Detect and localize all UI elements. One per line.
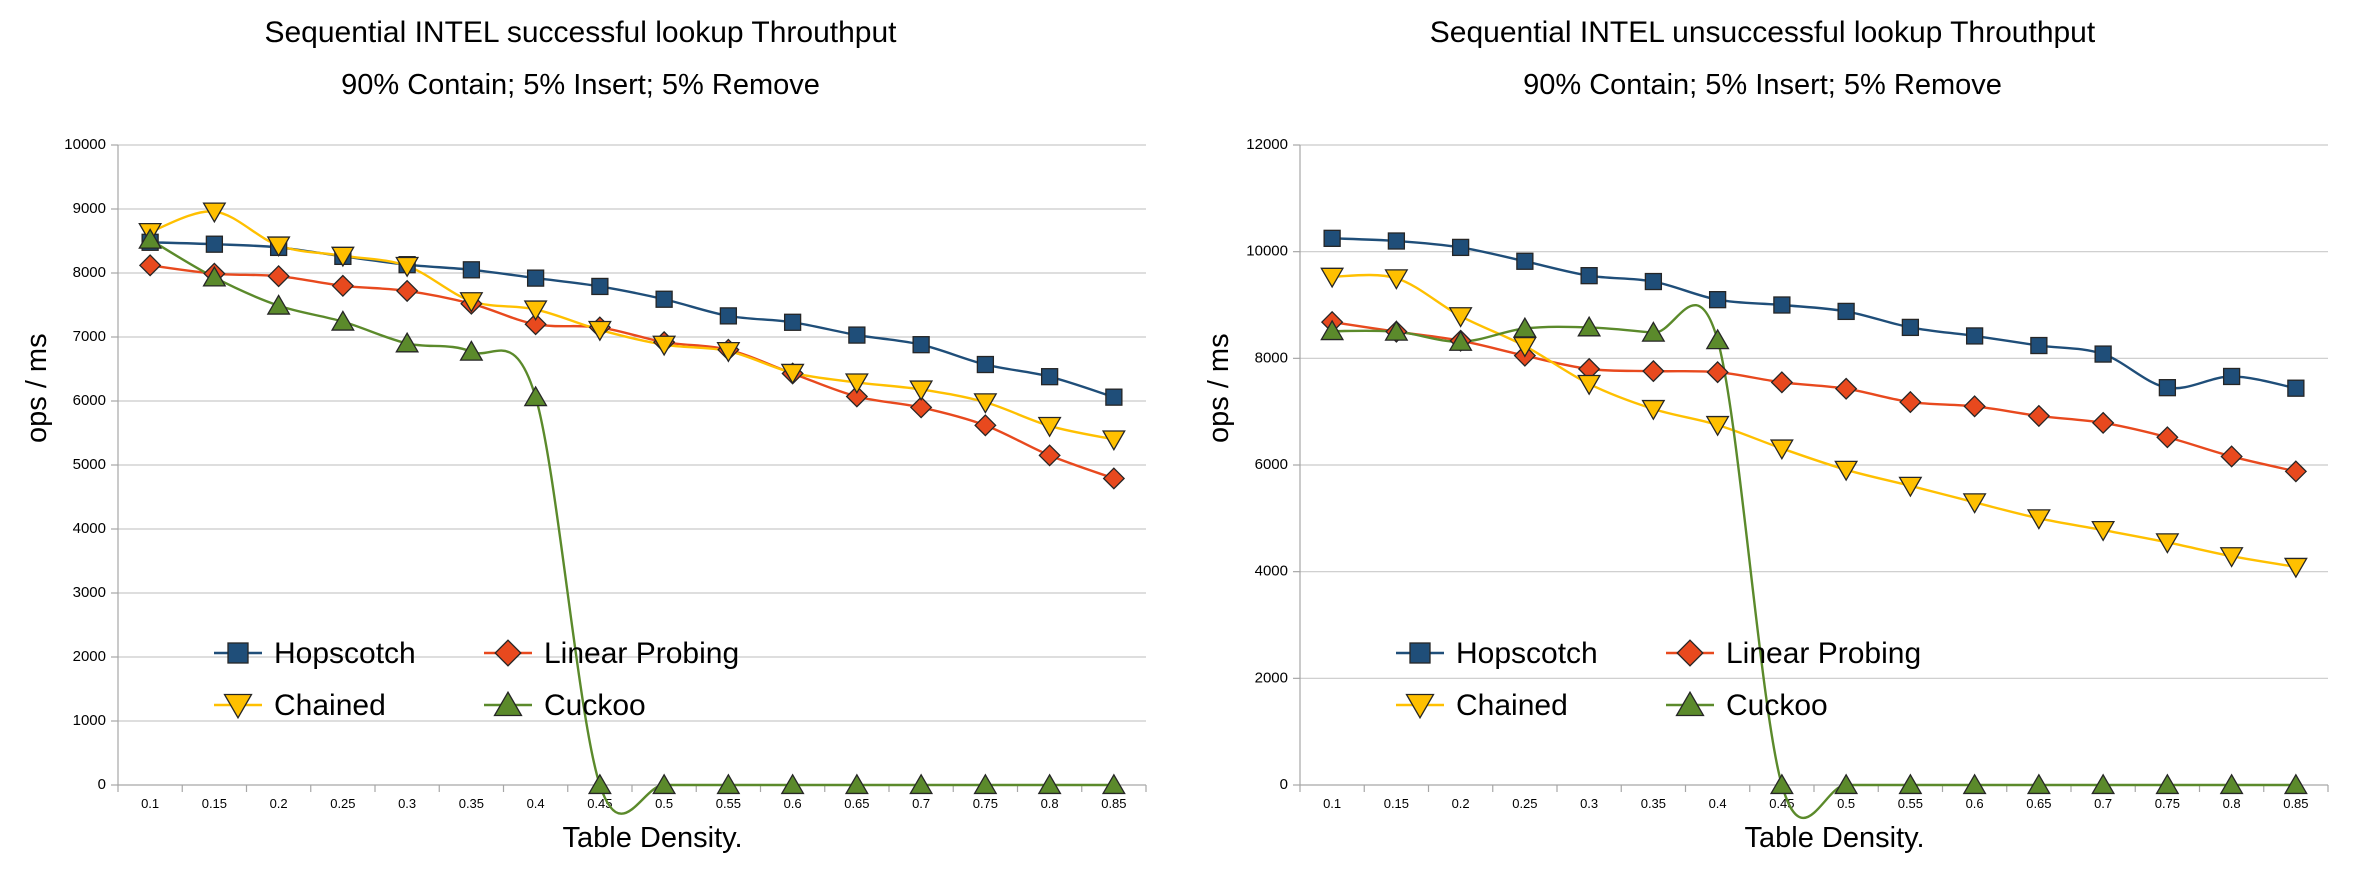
legend-label: Cuckoo	[544, 689, 646, 722]
series-line-hopscotch	[150, 242, 1114, 397]
x-tick-label: 0.6	[784, 796, 802, 811]
series-group	[150, 211, 1114, 813]
datapoint-hopscotch	[1517, 253, 1533, 269]
legend-item-chained[interactable]: Chained	[214, 689, 386, 722]
datapoint-linear-probing	[397, 281, 417, 301]
datapoint-chained	[2285, 558, 2307, 577]
x-tick-label: 0.3	[398, 796, 416, 811]
x-tick-label: 0.3	[1580, 796, 1598, 811]
datapoint-cuckoo	[1771, 775, 1793, 794]
datapoint-linear-probing	[2157, 427, 2177, 447]
legend-item-chained[interactable]: Chained	[1396, 689, 1568, 722]
y-axis-title: ops / ms	[1203, 333, 1235, 443]
datapoint-hopscotch	[206, 236, 222, 252]
x-axis-title: Table Density.	[1745, 822, 1925, 854]
y-tick-label: 3000	[73, 584, 106, 601]
datapoint-chained	[1643, 401, 1665, 420]
legend-label: Hopscotch	[274, 637, 416, 670]
y-tick-label: 9000	[73, 200, 106, 217]
x-tick-label: 0.1	[141, 796, 159, 811]
chart-page: Sequential INTEL successful lookup Throu…	[0, 0, 2362, 880]
chart-panel-unsuccessful-lookup: Sequential INTEL unsuccessful lookup Thr…	[1181, 0, 2362, 880]
datapoint-hopscotch	[463, 262, 479, 278]
datapoint-hopscotch	[2095, 346, 2111, 362]
x-tick-label: 0.5	[655, 796, 673, 811]
legend-marker-diamond	[495, 640, 521, 666]
x-axis-title: Table Density.	[563, 822, 743, 854]
x-tick-label: 0.25	[1512, 796, 1537, 811]
unsuccessful-lookup-chart-svg: Sequential INTEL unsuccessful lookup Thr…	[1182, 0, 2362, 880]
legend-marker-diamond	[1677, 640, 1703, 666]
datapoint-hopscotch	[528, 270, 544, 286]
chart-panel-successful-lookup: Sequential INTEL successful lookup Throu…	[0, 0, 1181, 880]
datapoint-linear-probing	[1836, 378, 1856, 398]
x-tick-label: 0.75	[2155, 796, 2180, 811]
legend-label: Hopscotch	[1456, 637, 1598, 670]
y-tick-label: 7000	[73, 328, 106, 345]
x-tick-label: 0.65	[844, 796, 869, 811]
y-tick-label: 8000	[1255, 349, 1288, 366]
x-tick-label: 0.15	[1384, 796, 1409, 811]
legend-marker-square	[228, 643, 248, 663]
y-tick-label: 4000	[73, 520, 106, 537]
datapoint-hopscotch	[2031, 338, 2047, 354]
x-tick-label: 0.2	[1452, 796, 1470, 811]
x-tick-label: 0.2	[270, 796, 288, 811]
x-tick-label: 0.4	[527, 796, 545, 811]
y-tick-label: 2000	[73, 648, 106, 665]
y-tick-label: 2000	[1255, 669, 1288, 686]
x-tick-label: 0.65	[2026, 796, 2051, 811]
y-tick-label: 8000	[73, 264, 106, 281]
y-tick-label: 4000	[1255, 563, 1288, 580]
x-tick-label: 0.25	[330, 796, 355, 811]
series-line-linear-probing	[150, 265, 1114, 478]
legend-item-hopscotch[interactable]: Hopscotch	[214, 637, 416, 670]
y-tick-label: 0	[98, 776, 106, 793]
datapoint-linear-probing	[1104, 468, 1124, 488]
datapoint-chained	[1450, 308, 1472, 327]
datapoint-hopscotch	[592, 278, 608, 294]
y-tick-label: 0	[1280, 776, 1288, 793]
datapoint-hopscotch	[2288, 380, 2304, 396]
legend-item-linear-probing[interactable]: Linear Probing	[1666, 637, 1921, 670]
x-tick-label: 0.35	[459, 796, 484, 811]
legend-item-cuckoo[interactable]: Cuckoo	[1666, 689, 1828, 722]
datapoint-chained	[1386, 270, 1408, 289]
y-tick-label: 5000	[73, 456, 106, 473]
datapoint-chained	[975, 394, 997, 413]
x-tick-label: 0.15	[202, 796, 227, 811]
series-line-linear-probing	[1332, 322, 2296, 471]
successful-lookup-chart-svg: Sequential INTEL successful lookup Throu…	[0, 0, 1181, 880]
x-tick-label: 0.8	[1041, 796, 1059, 811]
datapoint-hopscotch	[1838, 303, 1854, 319]
datapoint-hopscotch	[913, 337, 929, 353]
chart-subtitle: 90% Contain; 5% Insert; 5% Remove	[341, 69, 820, 101]
datapoint-linear-probing	[975, 415, 995, 435]
series-group	[1332, 238, 2296, 818]
legend-label: Cuckoo	[1726, 689, 1828, 722]
datapoint-cuckoo	[1707, 330, 1729, 349]
x-tick-label: 0.55	[716, 796, 741, 811]
chart-title: Sequential INTEL unsuccessful lookup Thr…	[1430, 16, 2096, 49]
datapoint-hopscotch	[1453, 239, 1469, 255]
datapoint-linear-probing	[1772, 372, 1792, 392]
y-tick-label: 10000	[64, 136, 106, 153]
datapoint-chained	[1321, 268, 1343, 287]
legend-label: Chained	[1456, 689, 1568, 722]
y-axis-title: ops / ms	[21, 333, 53, 443]
x-tick-label: 0.1	[1323, 796, 1341, 811]
series-line-hopscotch	[1332, 238, 2296, 388]
datapoint-hopscotch	[849, 327, 865, 343]
legend-label: Chained	[274, 689, 386, 722]
datapoint-hopscotch	[656, 291, 672, 307]
datapoint-linear-probing	[2093, 413, 2113, 433]
datapoint-hopscotch	[1581, 268, 1597, 284]
legend-marker-square	[1410, 643, 1430, 663]
datapoint-linear-probing	[1900, 392, 1920, 412]
datapoint-chained	[1103, 431, 1125, 450]
datapoint-hopscotch	[1710, 292, 1726, 308]
datapoint-hopscotch	[1388, 233, 1404, 249]
datapoint-cuckoo	[589, 775, 611, 794]
x-tick-label: 0.4	[1709, 796, 1727, 811]
datapoint-hopscotch	[977, 357, 993, 373]
datapoint-chained	[1707, 417, 1729, 436]
x-tick-label: 0.35	[1641, 796, 1666, 811]
datapoint-linear-probing	[1964, 396, 1984, 416]
series-line-chained	[1332, 275, 2296, 567]
x-tick-label: 0.85	[2283, 796, 2308, 811]
datapoint-hopscotch	[1042, 369, 1058, 385]
datapoint-hopscotch	[1645, 274, 1661, 290]
legend: HopscotchLinear ProbingChainedCuckoo	[214, 637, 739, 722]
legend-item-linear-probing[interactable]: Linear Probing	[484, 637, 739, 670]
legend-label: Linear Probing	[1726, 637, 1921, 670]
datapoint-hopscotch	[785, 314, 801, 330]
datapoint-cuckoo	[525, 387, 547, 406]
datapoint-hopscotch	[1774, 297, 1790, 313]
datapoint-chained	[1771, 440, 1793, 459]
legend-item-cuckoo[interactable]: Cuckoo	[484, 689, 646, 722]
x-tick-label: 0.5	[1837, 796, 1855, 811]
series-line-cuckoo	[150, 240, 1114, 814]
x-tick-label: 0.55	[1898, 796, 1923, 811]
datapoint-hopscotch	[1967, 328, 1983, 344]
x-tick-label: 0.85	[1101, 796, 1126, 811]
series-line-chained	[150, 211, 1114, 439]
x-tick-label: 0.6	[1966, 796, 1984, 811]
datapoint-hopscotch	[2159, 380, 2175, 396]
datapoint-linear-probing	[2286, 461, 2306, 481]
y-tick-label: 12000	[1246, 136, 1288, 153]
datapoint-hopscotch	[1106, 389, 1122, 405]
chart-title: Sequential INTEL successful lookup Throu…	[264, 16, 897, 49]
datapoint-chained	[1578, 376, 1600, 395]
x-tick-label: 0.75	[973, 796, 998, 811]
y-tick-label: 6000	[73, 392, 106, 409]
x-tick-label: 0.7	[912, 796, 930, 811]
datapoint-hopscotch	[1324, 230, 1340, 246]
datapoint-cuckoo	[461, 341, 483, 360]
x-tick-label: 0.8	[2223, 796, 2241, 811]
datapoint-hopscotch	[2224, 368, 2240, 384]
datapoint-hopscotch	[720, 308, 736, 324]
y-tick-label: 6000	[1255, 456, 1288, 473]
legend: HopscotchLinear ProbingChainedCuckoo	[1396, 637, 1921, 722]
y-tick-label: 10000	[1246, 243, 1288, 260]
chart-subtitle: 90% Contain; 5% Insert; 5% Remove	[1523, 69, 2002, 101]
x-tick-label: 0.7	[2094, 796, 2112, 811]
datapoint-hopscotch	[1902, 319, 1918, 335]
datapoint-cuckoo	[268, 295, 290, 314]
datapoint-linear-probing	[2029, 406, 2049, 426]
datapoint-linear-probing	[268, 266, 288, 286]
datapoint-linear-probing	[2221, 446, 2241, 466]
datapoint-linear-probing	[1643, 361, 1663, 381]
datapoint-linear-probing	[1039, 445, 1059, 465]
legend-item-hopscotch[interactable]: Hopscotch	[1396, 637, 1598, 670]
legend-label: Linear Probing	[544, 637, 739, 670]
datapoint-linear-probing	[333, 276, 353, 296]
y-tick-label: 1000	[73, 712, 106, 729]
